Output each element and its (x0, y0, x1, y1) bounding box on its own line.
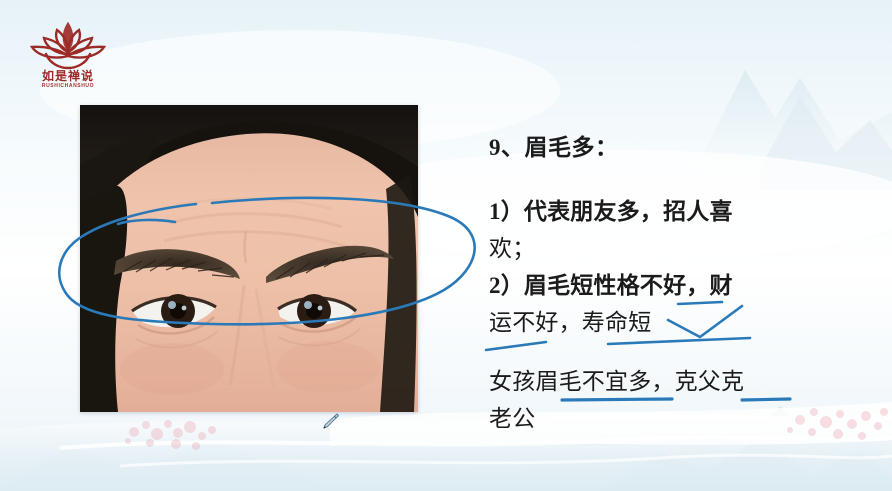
face-closeup-image (80, 105, 418, 412)
lotus-icon (26, 18, 110, 70)
eyebrow-photo (80, 105, 418, 412)
blossom-cluster-left (125, 420, 216, 450)
brand-logo: 如是禅说 RUSHICHANSHUO (26, 18, 110, 90)
content-tail-1: 女孩眉毛不宜多，克父克 (489, 369, 744, 394)
lecture-text-block: 9、眉毛多： 1）代表朋友多，招人喜 欢； 2）眉毛短性格不好，财 运不好，寿命… (489, 133, 819, 437)
pen-cursor-icon[interactable] (318, 412, 340, 432)
content-tail-2: 老公 (489, 406, 535, 431)
section-heading: 9、眉毛多： (489, 133, 819, 163)
content-line-1: 1）代表朋友多，招人喜 (489, 199, 733, 224)
brand-name-cn: 如是禅说 (26, 70, 110, 83)
content-line-3: 2）眉毛短性格不好，财 (489, 273, 733, 298)
slide-canvas: 如是禅说 RUSHICHANSHUO (0, 0, 892, 491)
brand-name-pinyin: RUSHICHANSHUO (26, 83, 110, 89)
content-line-2: 欢； (489, 236, 535, 261)
content-line-4: 运不好，寿命短 (489, 310, 651, 335)
